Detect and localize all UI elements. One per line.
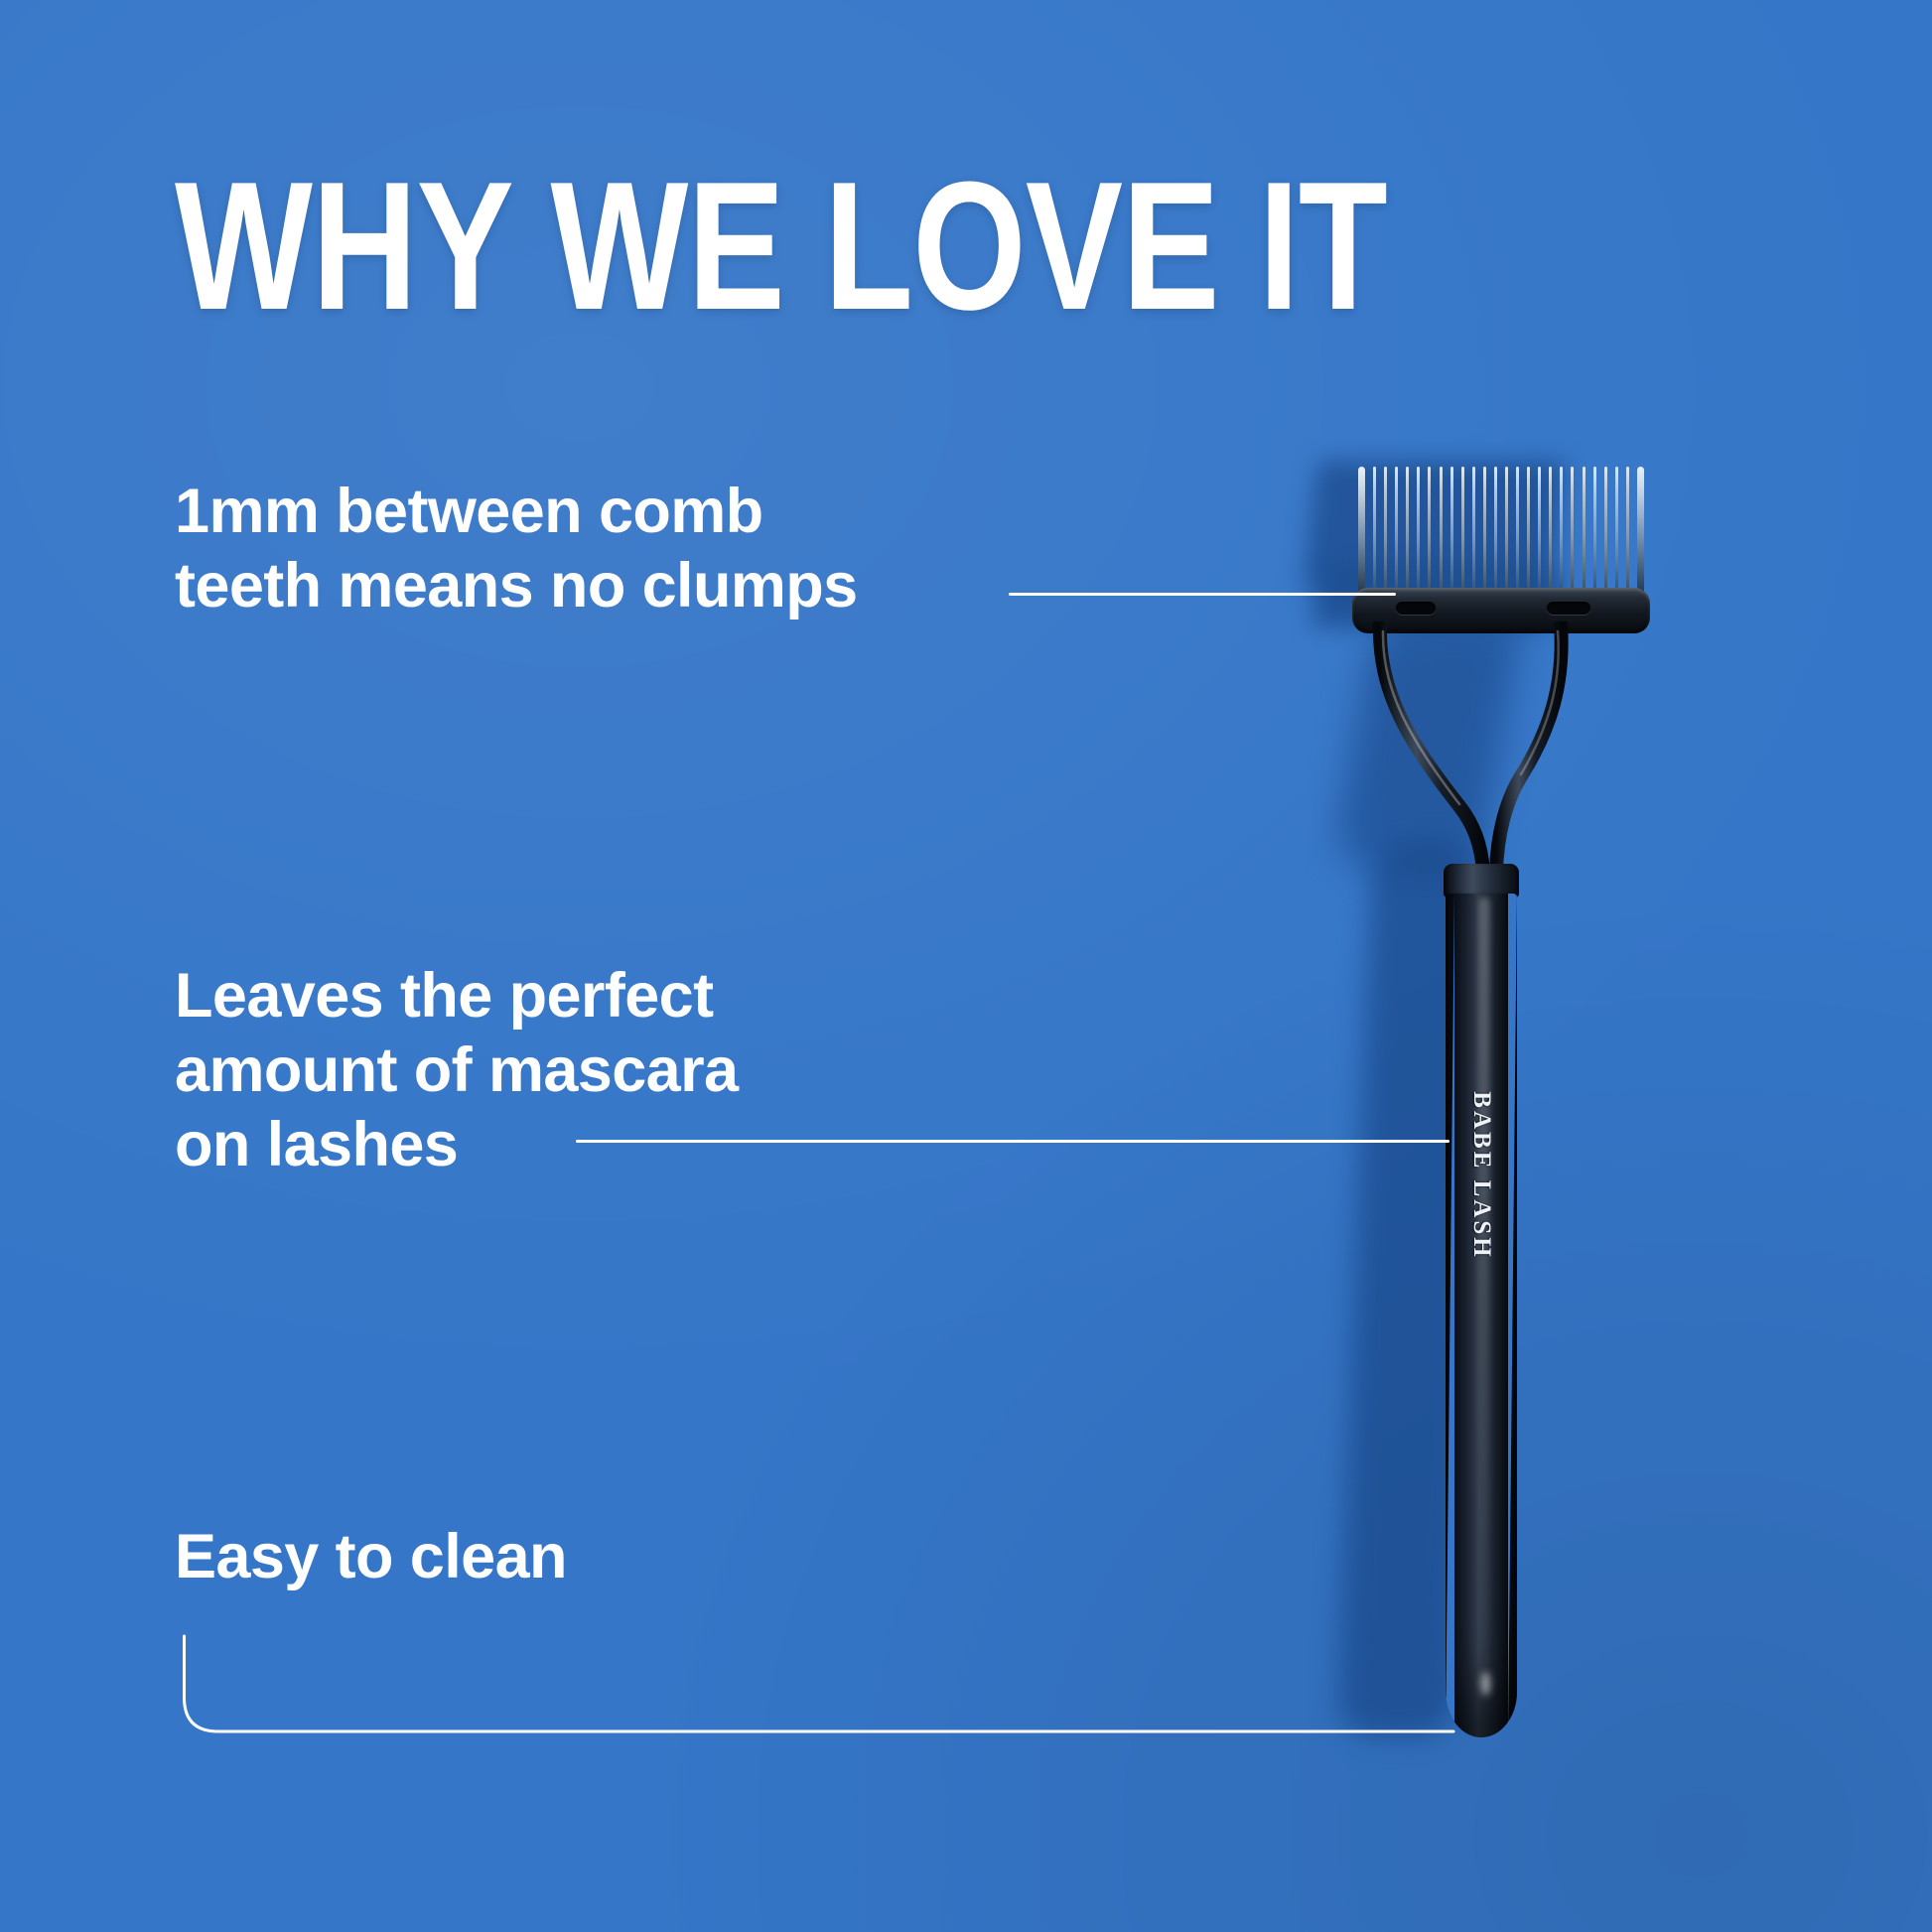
handle-highlight — [1479, 897, 1490, 1692]
comb-tooth — [1583, 467, 1586, 594]
comb-tooth — [1593, 467, 1596, 594]
handle-tip-glow — [1481, 1672, 1490, 1696]
comb-tooth — [1516, 467, 1519, 594]
comb-tooth — [1571, 467, 1574, 594]
comb-tooth — [1505, 467, 1508, 594]
callout-line: Easy to clean — [175, 1520, 567, 1594]
leader-line-2 — [576, 1140, 1449, 1143]
comb-head — [1352, 417, 1650, 629]
comb-tooth — [1395, 467, 1398, 594]
comb-tooth — [1494, 467, 1497, 594]
comb-tooth — [1417, 467, 1420, 594]
comb-tooth — [1384, 467, 1387, 594]
comb-tooth — [1483, 467, 1486, 594]
comb-tooth — [1549, 467, 1552, 594]
brand-label: BABE LASH — [1467, 1091, 1495, 1259]
comb-tooth — [1461, 467, 1464, 594]
handle: BABE LASH — [1444, 864, 1519, 1737]
callout-easy-clean: Easy to clean — [175, 1520, 567, 1594]
handle-taper-left — [1446, 894, 1454, 1737]
comb-tooth — [1615, 467, 1618, 594]
comb-tooth — [1472, 467, 1475, 594]
wishbone-yoke — [1356, 621, 1644, 874]
callout-comb-spacing: 1mm between comb teeth means no clumps — [175, 475, 858, 623]
handle-ferrule — [1444, 864, 1519, 897]
handle-grip — [1446, 894, 1517, 1737]
comb-tooth — [1626, 467, 1629, 594]
comb-tooth — [1428, 467, 1431, 594]
page-title: WHY WE LOVE IT — [175, 162, 1048, 330]
promo-image: BABE LASH WHY WE LOVE IT 1mm between com… — [0, 0, 1932, 1932]
comb-tooth — [1538, 467, 1541, 594]
callout-line: 1mm between comb — [175, 475, 858, 549]
comb-tooth — [1450, 467, 1453, 594]
callout-line: on lashes — [175, 1108, 738, 1182]
callout-line: teeth means no clumps — [175, 549, 858, 623]
comb-tooth — [1637, 467, 1644, 594]
callout-line: amount of mascara — [175, 1034, 738, 1108]
comb-tooth — [1527, 467, 1530, 594]
product-photo-lash-comb: BABE LASH — [1231, 417, 1747, 1807]
comb-tooth — [1560, 467, 1563, 594]
comb-tooth — [1373, 467, 1376, 594]
comb-teeth — [1358, 465, 1644, 594]
comb-tooth — [1358, 467, 1365, 594]
base-bar-slot — [1396, 602, 1436, 615]
handle-taper-right — [1508, 894, 1517, 1737]
comb-tooth — [1440, 467, 1443, 594]
callout-line: Leaves the perfect — [175, 959, 738, 1034]
comb-tooth — [1406, 467, 1409, 594]
base-bar-slot — [1547, 602, 1590, 615]
leader-line-1 — [1009, 593, 1396, 596]
comb-tooth — [1604, 467, 1607, 594]
callout-mascara-amount: Leaves the perfect amount of mascara on … — [175, 959, 738, 1182]
